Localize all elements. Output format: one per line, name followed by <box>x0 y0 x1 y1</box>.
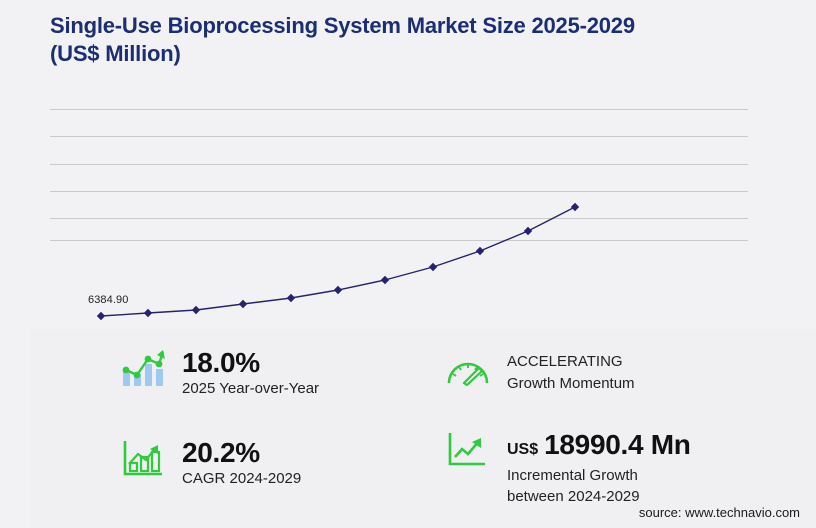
data-point-2019 <box>97 312 105 320</box>
stat-year-over-year: 18.0% 2025 Year-over-Year <box>120 347 319 399</box>
momentum-headline: ACCELERATING <box>507 351 635 373</box>
page-title: Single-Use Bioprocessing System Market S… <box>50 12 750 68</box>
data-point-2020 <box>144 309 152 317</box>
stat-growth-momentum: ACCELERATING Growth Momentum <box>445 350 635 394</box>
first-point-label: 6384.90 <box>88 294 128 306</box>
data-point-2023 <box>287 294 295 302</box>
yoy-label: 2025 Year-over-Year <box>182 378 319 399</box>
data-point-2029 <box>571 203 579 211</box>
incremental-amount: 18990.4 Mn <box>544 429 690 460</box>
cagr-value: 20.2% <box>182 438 301 468</box>
data-point-2024 <box>334 286 342 294</box>
incremental-value: US$18990.4 Mn <box>507 430 691 465</box>
data-point-2022 <box>239 300 247 308</box>
data-point-2028 <box>524 227 532 235</box>
bar-line-growth-icon <box>120 347 166 389</box>
data-point-2026 <box>429 263 437 271</box>
series-markers <box>97 203 579 320</box>
incremental-label: Incremental Growth between 2024-2029 <box>507 465 691 507</box>
stats-panel: 18.0% 2025 Year-over-Year 20.2% CAGR 202… <box>30 329 816 528</box>
stat-incremental-growth: US$18990.4 Mn Incremental Growth between… <box>445 429 691 507</box>
trend-arrow-icon <box>445 429 491 471</box>
cagr-label: CAGR 2024-2029 <box>182 468 301 489</box>
speedometer-icon <box>445 350 491 392</box>
yoy-value: 18.0% <box>182 348 319 378</box>
stat-cagr: 20.2% CAGR 2024-2029 <box>120 437 301 489</box>
line-chart: 6384.90 2019 2020 2021 2022 2023 2024 20… <box>0 96 816 286</box>
data-point-2027 <box>476 247 484 255</box>
stat-text: ACCELERATING Growth Momentum <box>507 350 635 394</box>
data-point-2021 <box>192 306 200 314</box>
stat-text: US$18990.4 Mn Incremental Growth between… <box>507 429 691 507</box>
momentum-label: Growth Momentum <box>507 373 635 394</box>
series-line <box>50 101 748 261</box>
title-block: Single-Use Bioprocessing System Market S… <box>50 12 750 68</box>
data-point-2025 <box>381 276 389 284</box>
currency-unit: US$ <box>507 441 538 458</box>
source-attribution: source: www.technavio.com <box>639 505 800 520</box>
stat-text: 20.2% CAGR 2024-2029 <box>182 437 301 489</box>
series-polyline <box>101 207 575 316</box>
stat-text: 18.0% 2025 Year-over-Year <box>182 347 319 399</box>
bar-chart-arrow-icon <box>120 437 166 479</box>
